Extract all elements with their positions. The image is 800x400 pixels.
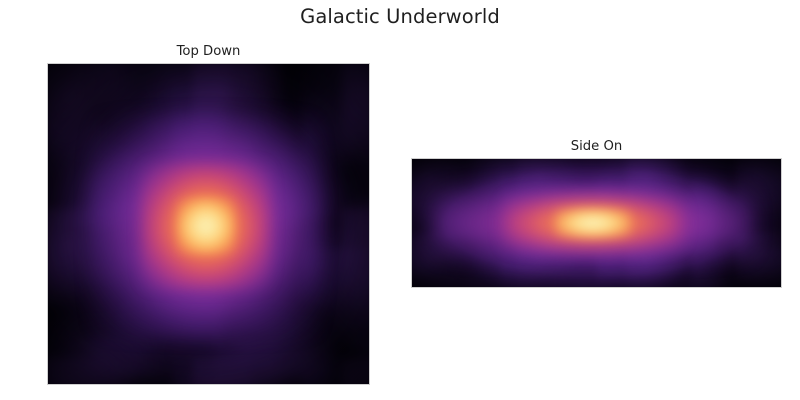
panel-title-side-on: Side On [411,138,782,155]
figure-canvas: Galactic Underworld Top Down Side On [0,0,800,400]
core-layer-side-on [556,209,630,237]
panel-title-top-down: Top Down [47,43,370,60]
core-layer-top-down [178,199,234,253]
heatmap-side-on [412,159,781,287]
figure-title: Galactic Underworld [0,2,800,32]
panel-top-down [47,63,370,385]
heatmap-top-down [48,64,369,384]
panel-side-on [411,158,782,288]
